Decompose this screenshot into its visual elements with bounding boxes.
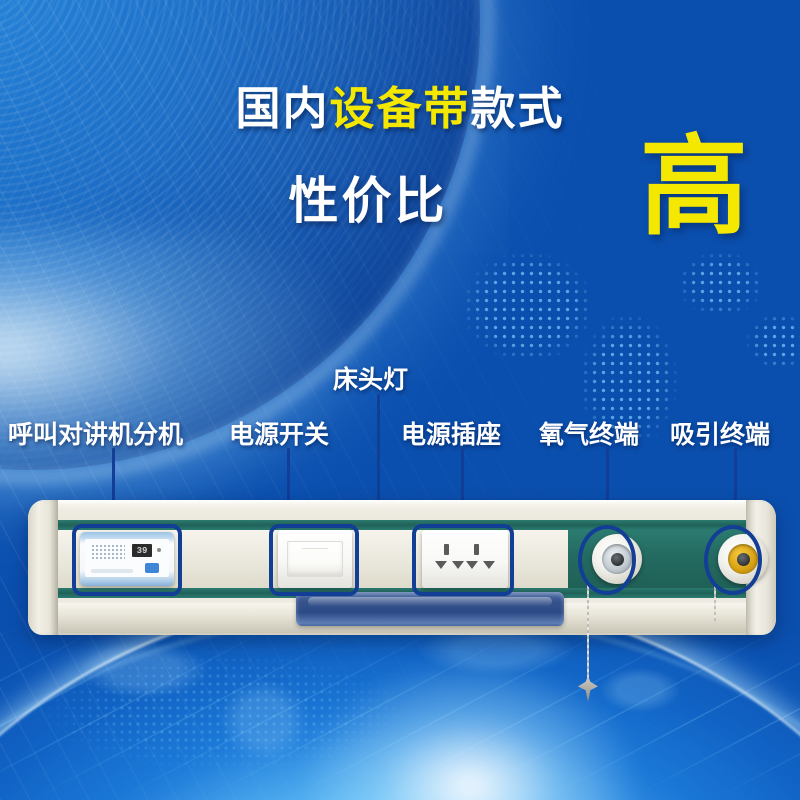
panel-end-cap-left	[28, 500, 58, 635]
highlight-box-power-switch	[269, 524, 359, 596]
callout-suction-terminal: 吸引终端	[670, 415, 770, 451]
headline-emphasis-text: 高	[640, 133, 748, 241]
callout-bed-lamp: 床头灯	[333, 360, 408, 396]
highlight-circle-oxygen	[578, 525, 636, 595]
highlight-box-intercom	[72, 524, 182, 596]
headline-line-2: 性价比 高	[0, 155, 800, 247]
callout-power-switch: 电源开关	[229, 415, 329, 451]
bed-lamp-diffuser	[296, 592, 564, 626]
highlight-box-power-socket	[412, 524, 514, 596]
callout-oxygen-terminal: 氧气终端	[539, 415, 639, 451]
headline-part-1: 国内	[235, 83, 329, 134]
headline-value-text: 性价比	[289, 161, 448, 233]
headline-part-2: 设备带	[329, 83, 470, 134]
callout-intercom: 呼叫对讲机分机	[8, 415, 183, 451]
pull-cord-suction[interactable]	[714, 585, 716, 621]
bed-lamp-highlight	[308, 597, 552, 606]
callout-power-socket: 电源插座	[401, 415, 501, 451]
pull-cord-oxygen[interactable]	[587, 585, 589, 683]
headline-block: 国内设备带款式 性价比 高	[0, 72, 800, 247]
highlight-circle-suction	[704, 525, 762, 595]
headline-part-3: 款式	[471, 83, 565, 134]
dotted-world-map-right	[410, 215, 800, 445]
